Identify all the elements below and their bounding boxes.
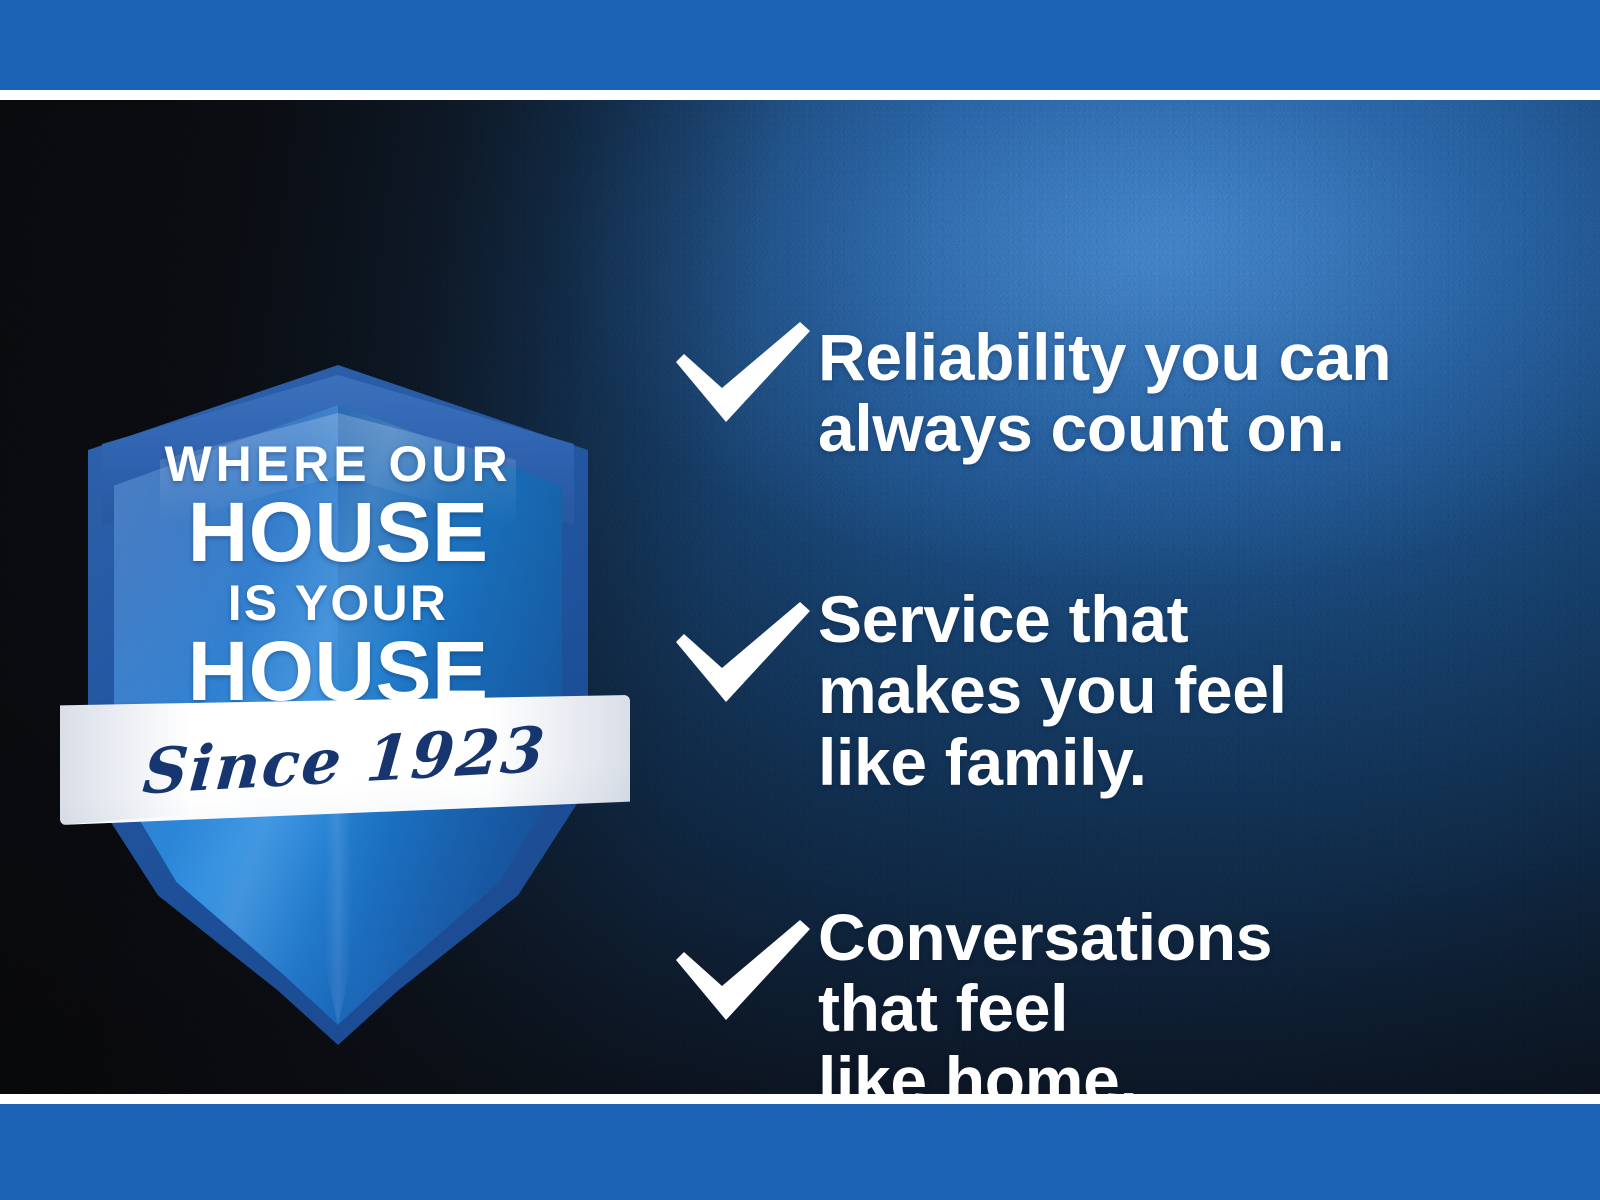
list-item-line: Conversations <box>818 902 1548 973</box>
since-ribbon: Since 1923 <box>60 695 630 825</box>
ribbon-since-label: Since 1923 <box>141 712 550 808</box>
house-shield-badge: WHERE OUR HOUSE IS YOUR HOUSE Since 1923 <box>60 260 630 1060</box>
list-item-line: Reliability you can <box>818 322 1548 393</box>
value-prop-list: Reliability you can always count on. Ser… <box>668 290 1548 1094</box>
list-item: Conversations that feel like home. <box>668 898 1548 1094</box>
list-item-line: makes you feel <box>818 655 1548 726</box>
list-item-text: Service that makes you feel like family. <box>818 580 1548 798</box>
shield-line-house-1: HOUSE <box>96 492 580 573</box>
shield-wordmark: WHERE OUR HOUSE IS YOUR HOUSE <box>96 440 580 711</box>
list-item-text: Reliability you can always count on. <box>818 318 1548 465</box>
checkmark-icon <box>668 598 818 708</box>
list-item: Reliability you can always count on. <box>668 318 1548 465</box>
list-item-line: always count on. <box>818 393 1548 464</box>
bottom-brand-bar <box>0 1104 1600 1200</box>
promo-graphic: WHERE OUR HOUSE IS YOUR HOUSE Since 1923 <box>0 0 1600 1200</box>
list-item: Service that makes you feel like family. <box>668 580 1548 798</box>
list-item-line: that feel <box>818 973 1548 1044</box>
list-item-line: Service that <box>818 584 1548 655</box>
list-item-text: Conversations that feel like home. <box>818 898 1548 1094</box>
checkmark-icon <box>668 916 818 1026</box>
shield-line-where: WHERE OUR <box>96 440 580 488</box>
list-item-line: like home. <box>818 1045 1548 1094</box>
list-item-line: like family. <box>818 727 1548 798</box>
main-panel: WHERE OUR HOUSE IS YOUR HOUSE Since 1923 <box>0 100 1600 1094</box>
top-brand-bar <box>0 0 1600 90</box>
shield-line-is-your: IS YOUR <box>96 579 580 627</box>
checkmark-icon <box>668 318 818 428</box>
